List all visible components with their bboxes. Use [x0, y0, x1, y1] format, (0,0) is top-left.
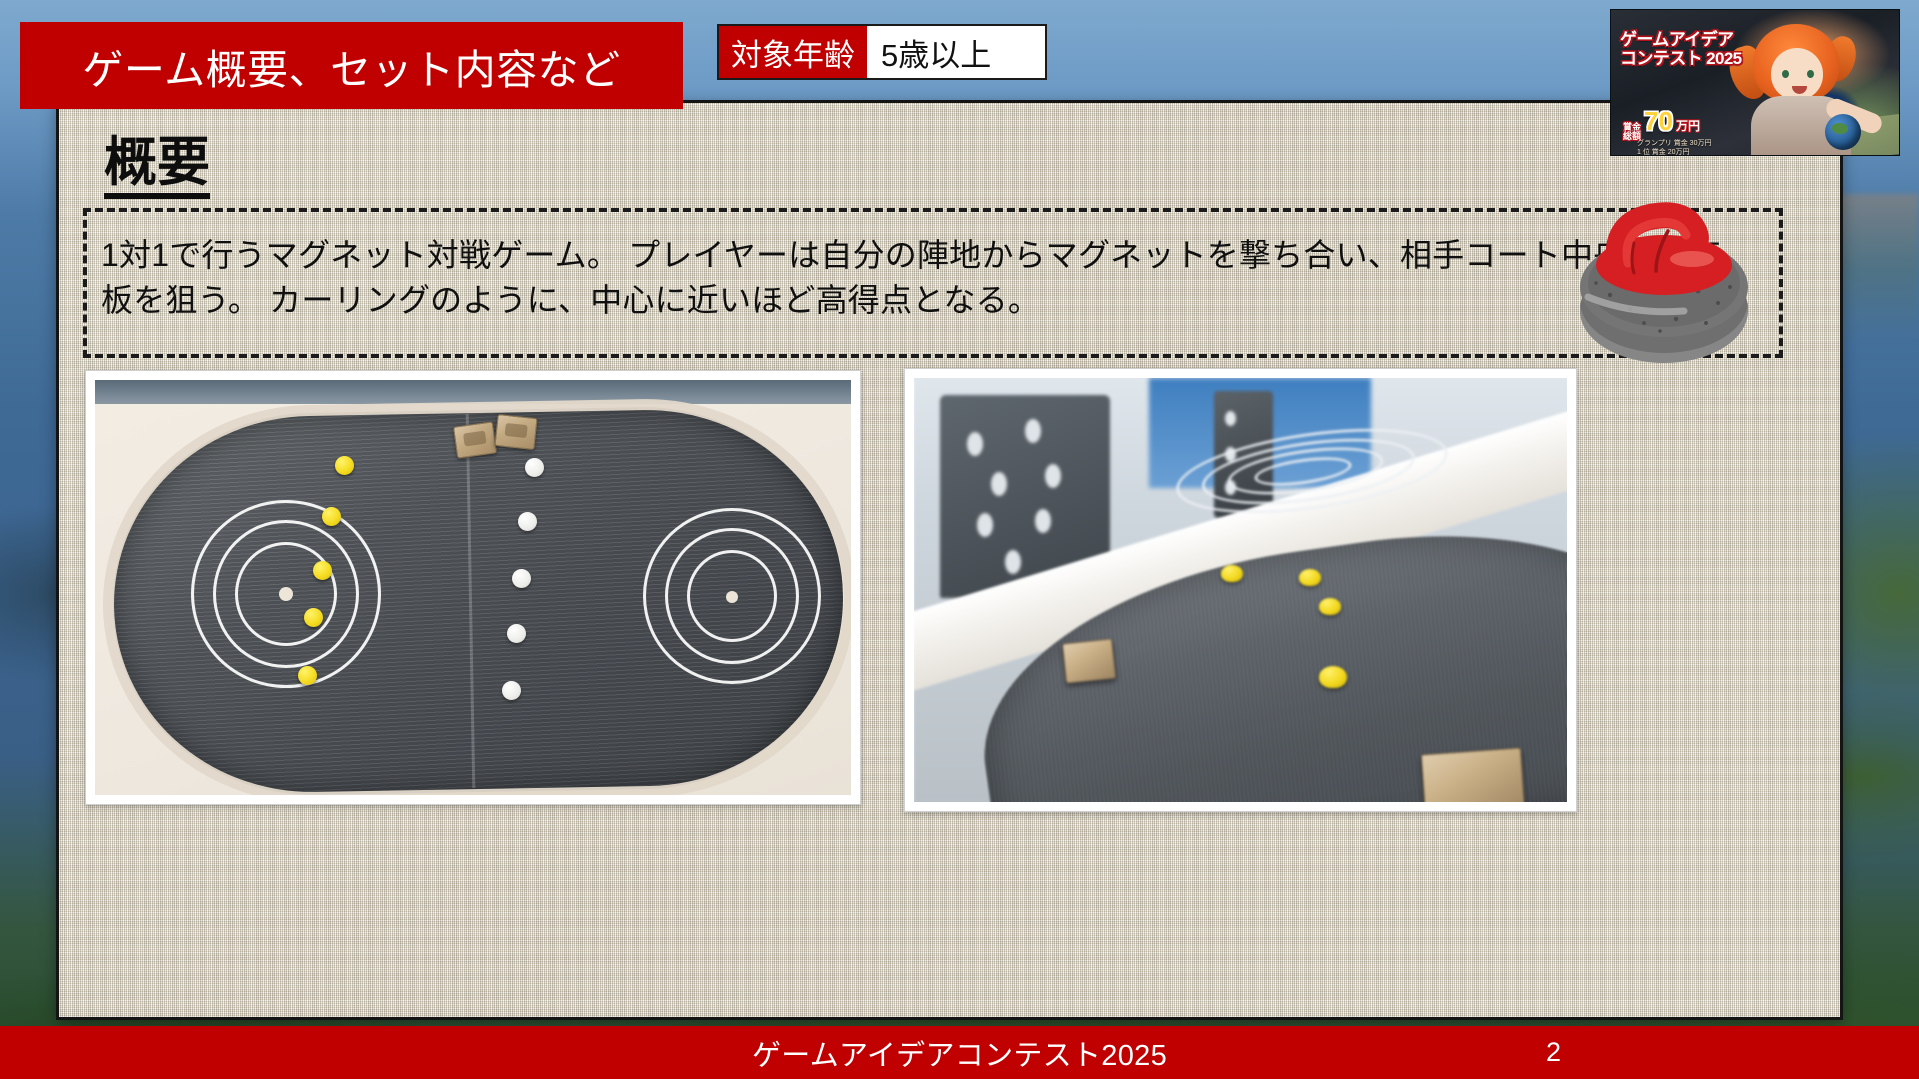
target-center-left — [279, 587, 293, 601]
contest-prize-breakdown-line1: グランプリ 賞金 30万円 — [1637, 140, 1711, 147]
wooden-launcher — [453, 421, 497, 458]
globe-art — [1825, 114, 1861, 150]
photo-board-perspective-view — [904, 368, 1577, 812]
slide-title-text: ゲーム概要、セット内容など — [82, 36, 620, 96]
target-age-value: 5歳以上 — [867, 26, 1045, 78]
target-age-badge: 対象年齢 5歳以上 — [717, 24, 1047, 80]
contest-prize-block: 賞金 総額 70 万円 — [1623, 110, 1700, 142]
contest-prize-breakdown: グランプリ 賞金 30万円 1 位 賞金 20万円 — [1637, 140, 1711, 156]
photo-board-top-view — [85, 370, 861, 805]
contest-logo-title-line1: ゲームアイデア — [1620, 30, 1750, 49]
curling-stone-icon — [1572, 191, 1757, 366]
yellow-magnet — [322, 507, 341, 526]
contest-logo-title: ゲームアイデア コンテスト 2025 — [1620, 30, 1750, 68]
white-puck — [518, 512, 537, 531]
girl-eye-right — [1807, 70, 1814, 78]
yellow-magnet — [304, 608, 323, 627]
page-title: 概要 — [104, 135, 210, 199]
white-puck — [525, 458, 544, 477]
description-text: 1対1で行うマグネット対戦ゲーム。 プレイヤーは自分の陣地からマグネットを撃ち合… — [101, 233, 1741, 324]
contest-prize-unit: 万円 — [1676, 117, 1700, 134]
wooden-launcher — [1421, 748, 1525, 802]
wooden-launcher — [494, 414, 537, 450]
contest-prize-breakdown-line2: 1 位 賞金 20万円 — [1637, 149, 1690, 156]
yellow-magnet — [1299, 569, 1321, 586]
contest-prize-amount: 70 — [1644, 110, 1673, 133]
white-puck — [507, 624, 526, 643]
yellow-magnet — [1319, 598, 1341, 615]
slide-footer: ゲームアイデアコンテスト2025 2 — [0, 1026, 1919, 1079]
target-age-label: 対象年齢 — [719, 26, 867, 78]
slide-title-banner: ゲーム概要、セット内容など — [20, 22, 683, 109]
contest-logo-banner: ゲームアイデア コンテスト 2025 賞金 総額 70 万円 グランプリ 賞金 … — [1610, 9, 1900, 156]
yellow-magnet — [1221, 565, 1243, 582]
yellow-magnet — [298, 666, 317, 685]
white-puck — [502, 681, 521, 700]
contest-logo-title-line2: コンテスト 2025 — [1620, 49, 1750, 68]
wooden-launcher — [1062, 638, 1116, 683]
footer-page-number: 2 — [1546, 1026, 1561, 1079]
white-puck — [512, 569, 531, 588]
slide-canvas: 概要 1対1で行うマグネット対戦ゲーム。 プレイヤーは自分の陣地からマグネットを… — [56, 100, 1843, 1020]
footer-title: ゲームアイデアコンテスト2025 — [0, 1026, 1919, 1079]
girl-eye-left — [1782, 70, 1789, 78]
target-center-right — [726, 591, 738, 603]
yellow-magnet — [313, 561, 332, 580]
yellow-magnet — [335, 456, 354, 475]
yellow-magnet — [1319, 666, 1347, 688]
photo-background-strip — [95, 380, 851, 404]
